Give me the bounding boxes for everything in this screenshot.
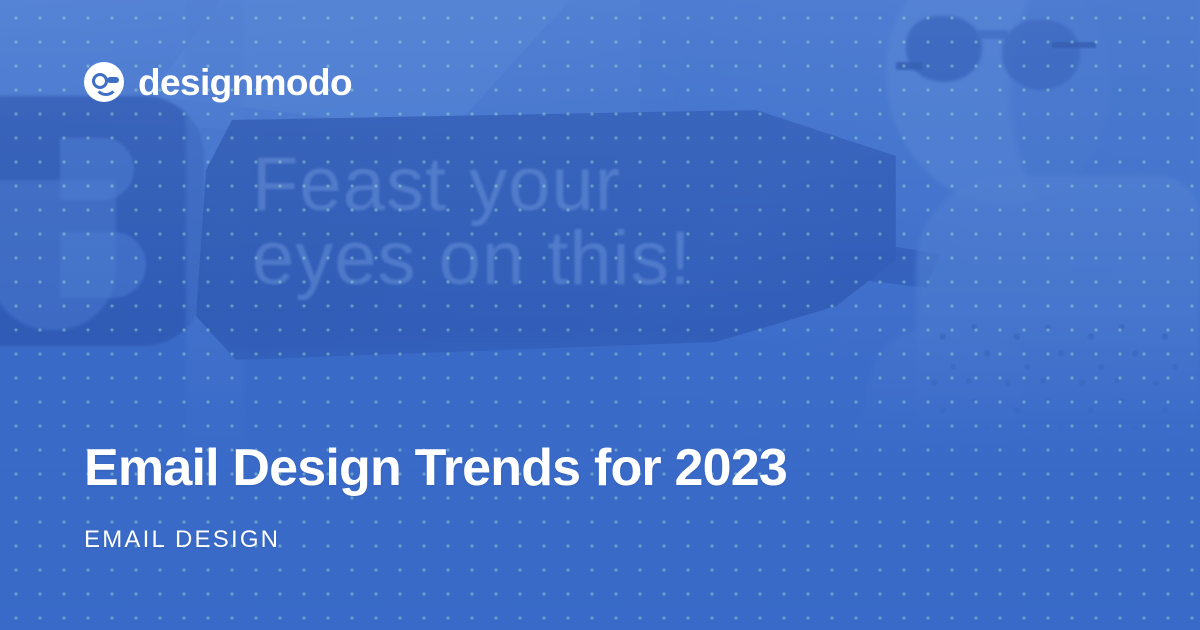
brand-wordmark: designmodo <box>138 64 352 101</box>
social-share-card: Feast your eyes on this! POW <box>0 0 1200 630</box>
logo-bar-shape <box>107 77 119 83</box>
designmodo-logo-icon <box>84 62 124 102</box>
category-label: EMAIL DESIGN <box>84 528 280 552</box>
page-title: Email Design Trends for 2023 <box>84 440 787 496</box>
brand-lockup[interactable]: designmodo <box>84 62 352 102</box>
logo-smile-shape <box>94 84 118 96</box>
card-content: designmodo Email Design Trends for 2023 … <box>0 0 1200 630</box>
